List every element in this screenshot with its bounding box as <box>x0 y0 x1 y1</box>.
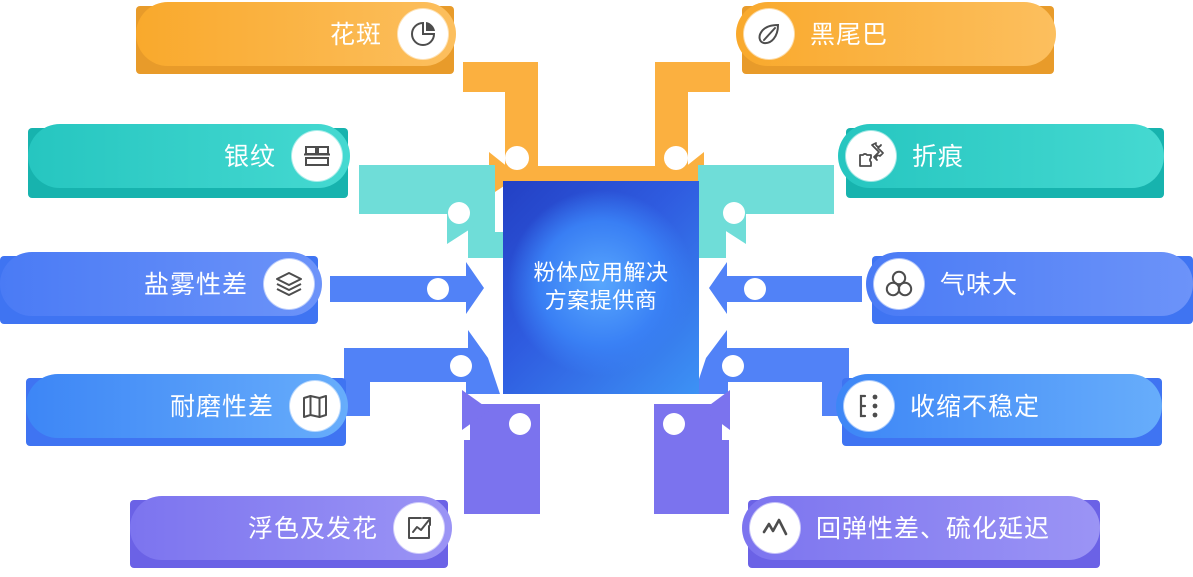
node-label-n8: 收缩不稳定 <box>894 394 1056 419</box>
infographic-diagram: 花斑 黑尾巴 银纹 折痕 <box>0 0 1193 577</box>
puzzle-piece-icon <box>846 131 896 181</box>
node-n2[interactable]: 黑尾巴 <box>736 2 1056 66</box>
connector-n5 <box>330 262 484 314</box>
node-label-n9: 浮色及发花 <box>232 516 394 541</box>
node-label-n1: 花斑 <box>314 22 398 47</box>
node-label-n2: 黑尾巴 <box>794 22 904 47</box>
center-hub-label: 粉体应用解决 方案提供商 <box>533 260 668 315</box>
node-n4[interactable]: 折痕 <box>838 124 1164 188</box>
line-chart-icon <box>750 503 800 553</box>
node-label-n3: 银纹 <box>208 144 292 169</box>
node-n8[interactable]: 收缩不稳定 <box>836 374 1162 438</box>
connector-n10 <box>654 390 730 514</box>
layers-icon <box>264 259 314 309</box>
connector-n2 <box>589 62 730 196</box>
sitemap-icon <box>844 381 894 431</box>
node-n3[interactable]: 银纹 <box>28 124 350 188</box>
node-n5[interactable]: 盐雾性差 <box>0 252 322 316</box>
center-hub-inner: 粉体应用解决 方案提供商 <box>503 181 699 394</box>
node-label-n7: 耐磨性差 <box>154 394 290 419</box>
node-n10[interactable]: 回弹性差、硫化延迟 <box>742 496 1100 560</box>
node-label-n5: 盐雾性差 <box>128 272 264 297</box>
node-n9[interactable]: 浮色及发花 <box>130 496 452 560</box>
node-label-n10: 回弹性差、硫化延迟 <box>800 516 1066 541</box>
node-label-n6: 气味大 <box>924 272 1034 297</box>
node-n6[interactable]: 气味大 <box>866 252 1193 316</box>
node-n7[interactable]: 耐磨性差 <box>26 374 348 438</box>
recycle-icon <box>874 259 924 309</box>
center-hub: 粉体应用解决 方案提供商 <box>503 181 699 394</box>
connector-n8 <box>694 330 849 416</box>
connector-n6 <box>709 262 862 314</box>
leaf-icon <box>744 9 794 59</box>
connector-n1 <box>463 62 606 196</box>
node-n1[interactable]: 花斑 <box>136 2 456 66</box>
pie-chart-icon <box>398 9 448 59</box>
connector-n7 <box>344 330 500 416</box>
brick-wall-icon <box>292 131 342 181</box>
node-label-n4: 折痕 <box>896 144 980 169</box>
trending-up-chart-icon <box>394 503 444 553</box>
open-book-icon <box>290 381 340 431</box>
connector-n9 <box>462 390 540 514</box>
